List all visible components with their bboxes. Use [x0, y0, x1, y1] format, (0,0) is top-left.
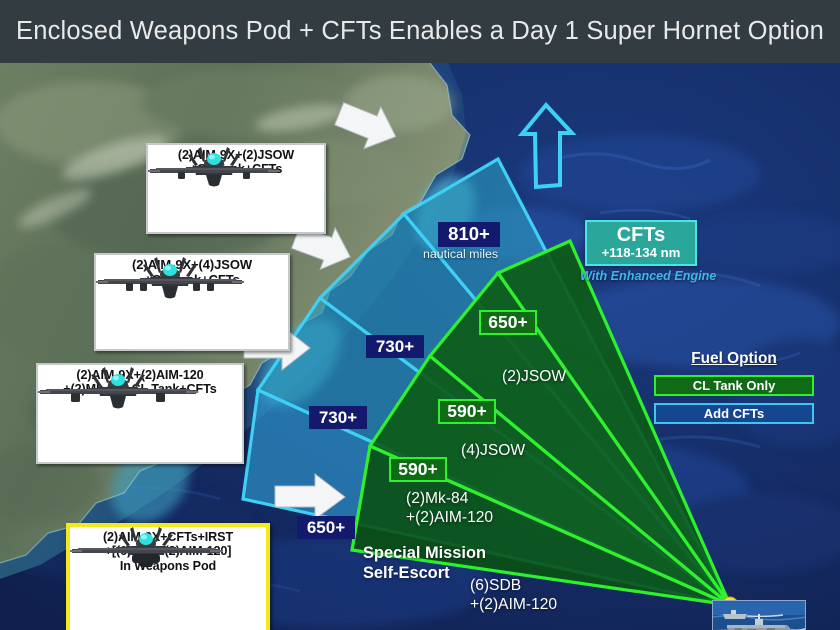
sector-label-2-jsow: (2)JSOW: [502, 367, 566, 386]
legend-item-cl-tank-only[interactable]: CL Tank Only: [654, 375, 814, 396]
title-bar: Enclosed Weapons Pod + CFTs Enables a Da…: [0, 0, 840, 63]
sector-label-special-mission: Special Mission Self-Escort: [363, 544, 486, 583]
loadout-card-2[interactable]: (2)AIM-9X+(4)JSOW +CL Tank+CFTs: [94, 253, 290, 351]
cft-callout-title: CFTs: [617, 225, 666, 246]
fuel-option-legend: Fuel Option CL Tank Only Add CFTs: [654, 350, 814, 431]
loadout-card-3[interactable]: (2)AIM-9X+(2)AIM-120 +(2)Mk-84 +CL Tank+…: [36, 363, 244, 464]
aircraft-carrier-photo: [712, 600, 806, 630]
special-mission-line1: Special Mission: [363, 544, 486, 564]
sector-label-mk84-line1: (2)Mk-84: [406, 489, 493, 508]
sector-label-4-jsow: (4)JSOW: [461, 441, 525, 460]
range-chip-650-cl: 650+: [479, 310, 537, 335]
range-chip-650-cft: 650+: [297, 516, 355, 539]
range-units-label: nautical miles: [423, 247, 498, 261]
cft-callout-box: CFTs +118-134 nm: [585, 220, 697, 266]
range-chip-730-lower: 730+: [309, 406, 367, 429]
cft-callout-note: With Enhanced Engine: [580, 269, 716, 283]
loadout-card-4-weapons-pod[interactable]: (2)AIM-9X+CFTs+IRST +[(6)SDB+(2)AIM-120]…: [66, 523, 270, 630]
satellite-map: 810+ nautical miles 730+ 730+ 650+ 650+ …: [0, 63, 840, 630]
legend-item-add-cfts[interactable]: Add CFTs: [654, 403, 814, 424]
range-chip-590-upper: 590+: [438, 399, 496, 424]
sector-label-mk84-line2: +(2)AIM-120: [406, 508, 493, 527]
range-chip-590-lower: 590+: [389, 457, 447, 482]
special-mission-line2: Self-Escort: [363, 564, 486, 584]
fighter-jet-front-icon: [70, 527, 222, 569]
range-chip-810: 810+: [438, 222, 500, 247]
page-title: Enclosed Weapons Pod + CFTs Enables a Da…: [16, 17, 824, 46]
range-chip-730-upper: 730+: [366, 335, 424, 358]
fighter-jet-front-icon: [38, 365, 198, 411]
sector-label-mk84: (2)Mk-84 +(2)AIM-120: [406, 489, 493, 527]
loadout-card-1[interactable]: (2)AIM-9X+(2)JSOW +CL Tank+CFTs: [146, 143, 326, 234]
legend-title: Fuel Option: [654, 350, 814, 368]
sector-label-sdb-line2: +(2)AIM-120: [470, 595, 557, 614]
fighter-jet-front-icon: [96, 255, 244, 301]
slide-canvas: Enclosed Weapons Pod + CFTs Enables a Da…: [0, 0, 840, 630]
fighter-jet-front-icon: [148, 145, 280, 189]
cft-callout-value: +118-134 nm: [602, 246, 681, 261]
